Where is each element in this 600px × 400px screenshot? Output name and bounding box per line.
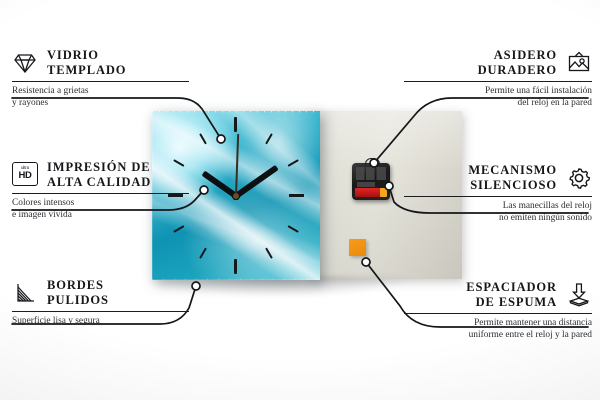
ultra-hd-icon: ultra HD xyxy=(12,162,38,188)
hanging-frame-icon xyxy=(566,50,592,76)
feature-divider xyxy=(404,313,592,314)
feature-header: BORDESPULIDOS xyxy=(12,278,189,307)
feature-header: MECANISMOSILENCIOSO xyxy=(404,163,592,192)
diamond-icon xyxy=(12,50,38,76)
ultra-hd-big-label: HD xyxy=(19,171,32,181)
feature-title: ESPACIADORDE ESPUMA xyxy=(466,280,557,309)
feature-header: ASIDERODURADERO xyxy=(404,48,592,77)
connector-dot-tempered-glass xyxy=(217,135,225,143)
feature-title: IMPRESIÓN DEALTA CALIDAD xyxy=(47,160,151,189)
gear-icon xyxy=(566,165,592,191)
feature-foam-spacer: ESPACIADORDE ESPUMA Permite mantener una… xyxy=(404,280,592,341)
feature-description: Permite mantener una distanciauniforme e… xyxy=(404,318,592,341)
connector-dot-foam-spacer xyxy=(362,258,370,266)
feature-divider xyxy=(12,81,189,82)
feature-title: VIDRIOTEMPLADO xyxy=(47,48,126,77)
feature-header: VIDRIOTEMPLADO xyxy=(12,48,189,77)
feature-durable-hanger: ASIDERODURADERO Permite una fácil instal… xyxy=(404,48,592,109)
feature-tempered-glass: VIDRIOTEMPLADO Resistencia a grietasy ra… xyxy=(12,48,189,109)
connector-dot-silent-mechanism xyxy=(385,182,393,190)
feature-header: ESPACIADORDE ESPUMA xyxy=(404,280,592,309)
arrow-down-onto-pad-icon xyxy=(566,282,592,308)
feature-divider xyxy=(12,311,189,312)
feature-description: Colores intensose imagen vívida xyxy=(12,198,189,221)
feature-silent-mechanism: MECANISMOSILENCIOSO Las manecillas del r… xyxy=(404,163,592,224)
connector-dot-hanger xyxy=(370,159,378,167)
feature-high-quality-print: ultra HD IMPRESIÓN DEALTA CALIDAD Colore… xyxy=(12,160,189,221)
feature-description: Resistencia a grietasy rayones xyxy=(12,86,189,109)
feature-description: Permite una fácil instalacióndel reloj e… xyxy=(404,86,592,109)
connector-dot-print-quality xyxy=(200,186,208,194)
feature-description: Superficie lisa y segura xyxy=(12,316,189,328)
feature-title: BORDESPULIDOS xyxy=(47,278,109,307)
connector-dot-polished-edges xyxy=(192,282,200,290)
feature-description: Las manecillas del relojno emiten ningún… xyxy=(404,201,592,224)
feature-polished-edges: BORDESPULIDOS Superficie lisa y segura xyxy=(12,278,189,328)
ultra-hd-badge: ultra HD xyxy=(12,162,38,186)
feature-header: ultra HD IMPRESIÓN DEALTA CALIDAD xyxy=(12,160,189,189)
feature-title: MECANISMOSILENCIOSO xyxy=(468,163,557,192)
feature-divider xyxy=(404,81,592,82)
feature-title: ASIDERODURADERO xyxy=(478,48,557,77)
feature-divider xyxy=(404,196,592,197)
infographic-canvas: VIDRIOTEMPLADO Resistencia a grietasy ra… xyxy=(0,0,600,400)
feature-divider xyxy=(12,193,189,194)
polished-edge-icon xyxy=(12,280,38,306)
